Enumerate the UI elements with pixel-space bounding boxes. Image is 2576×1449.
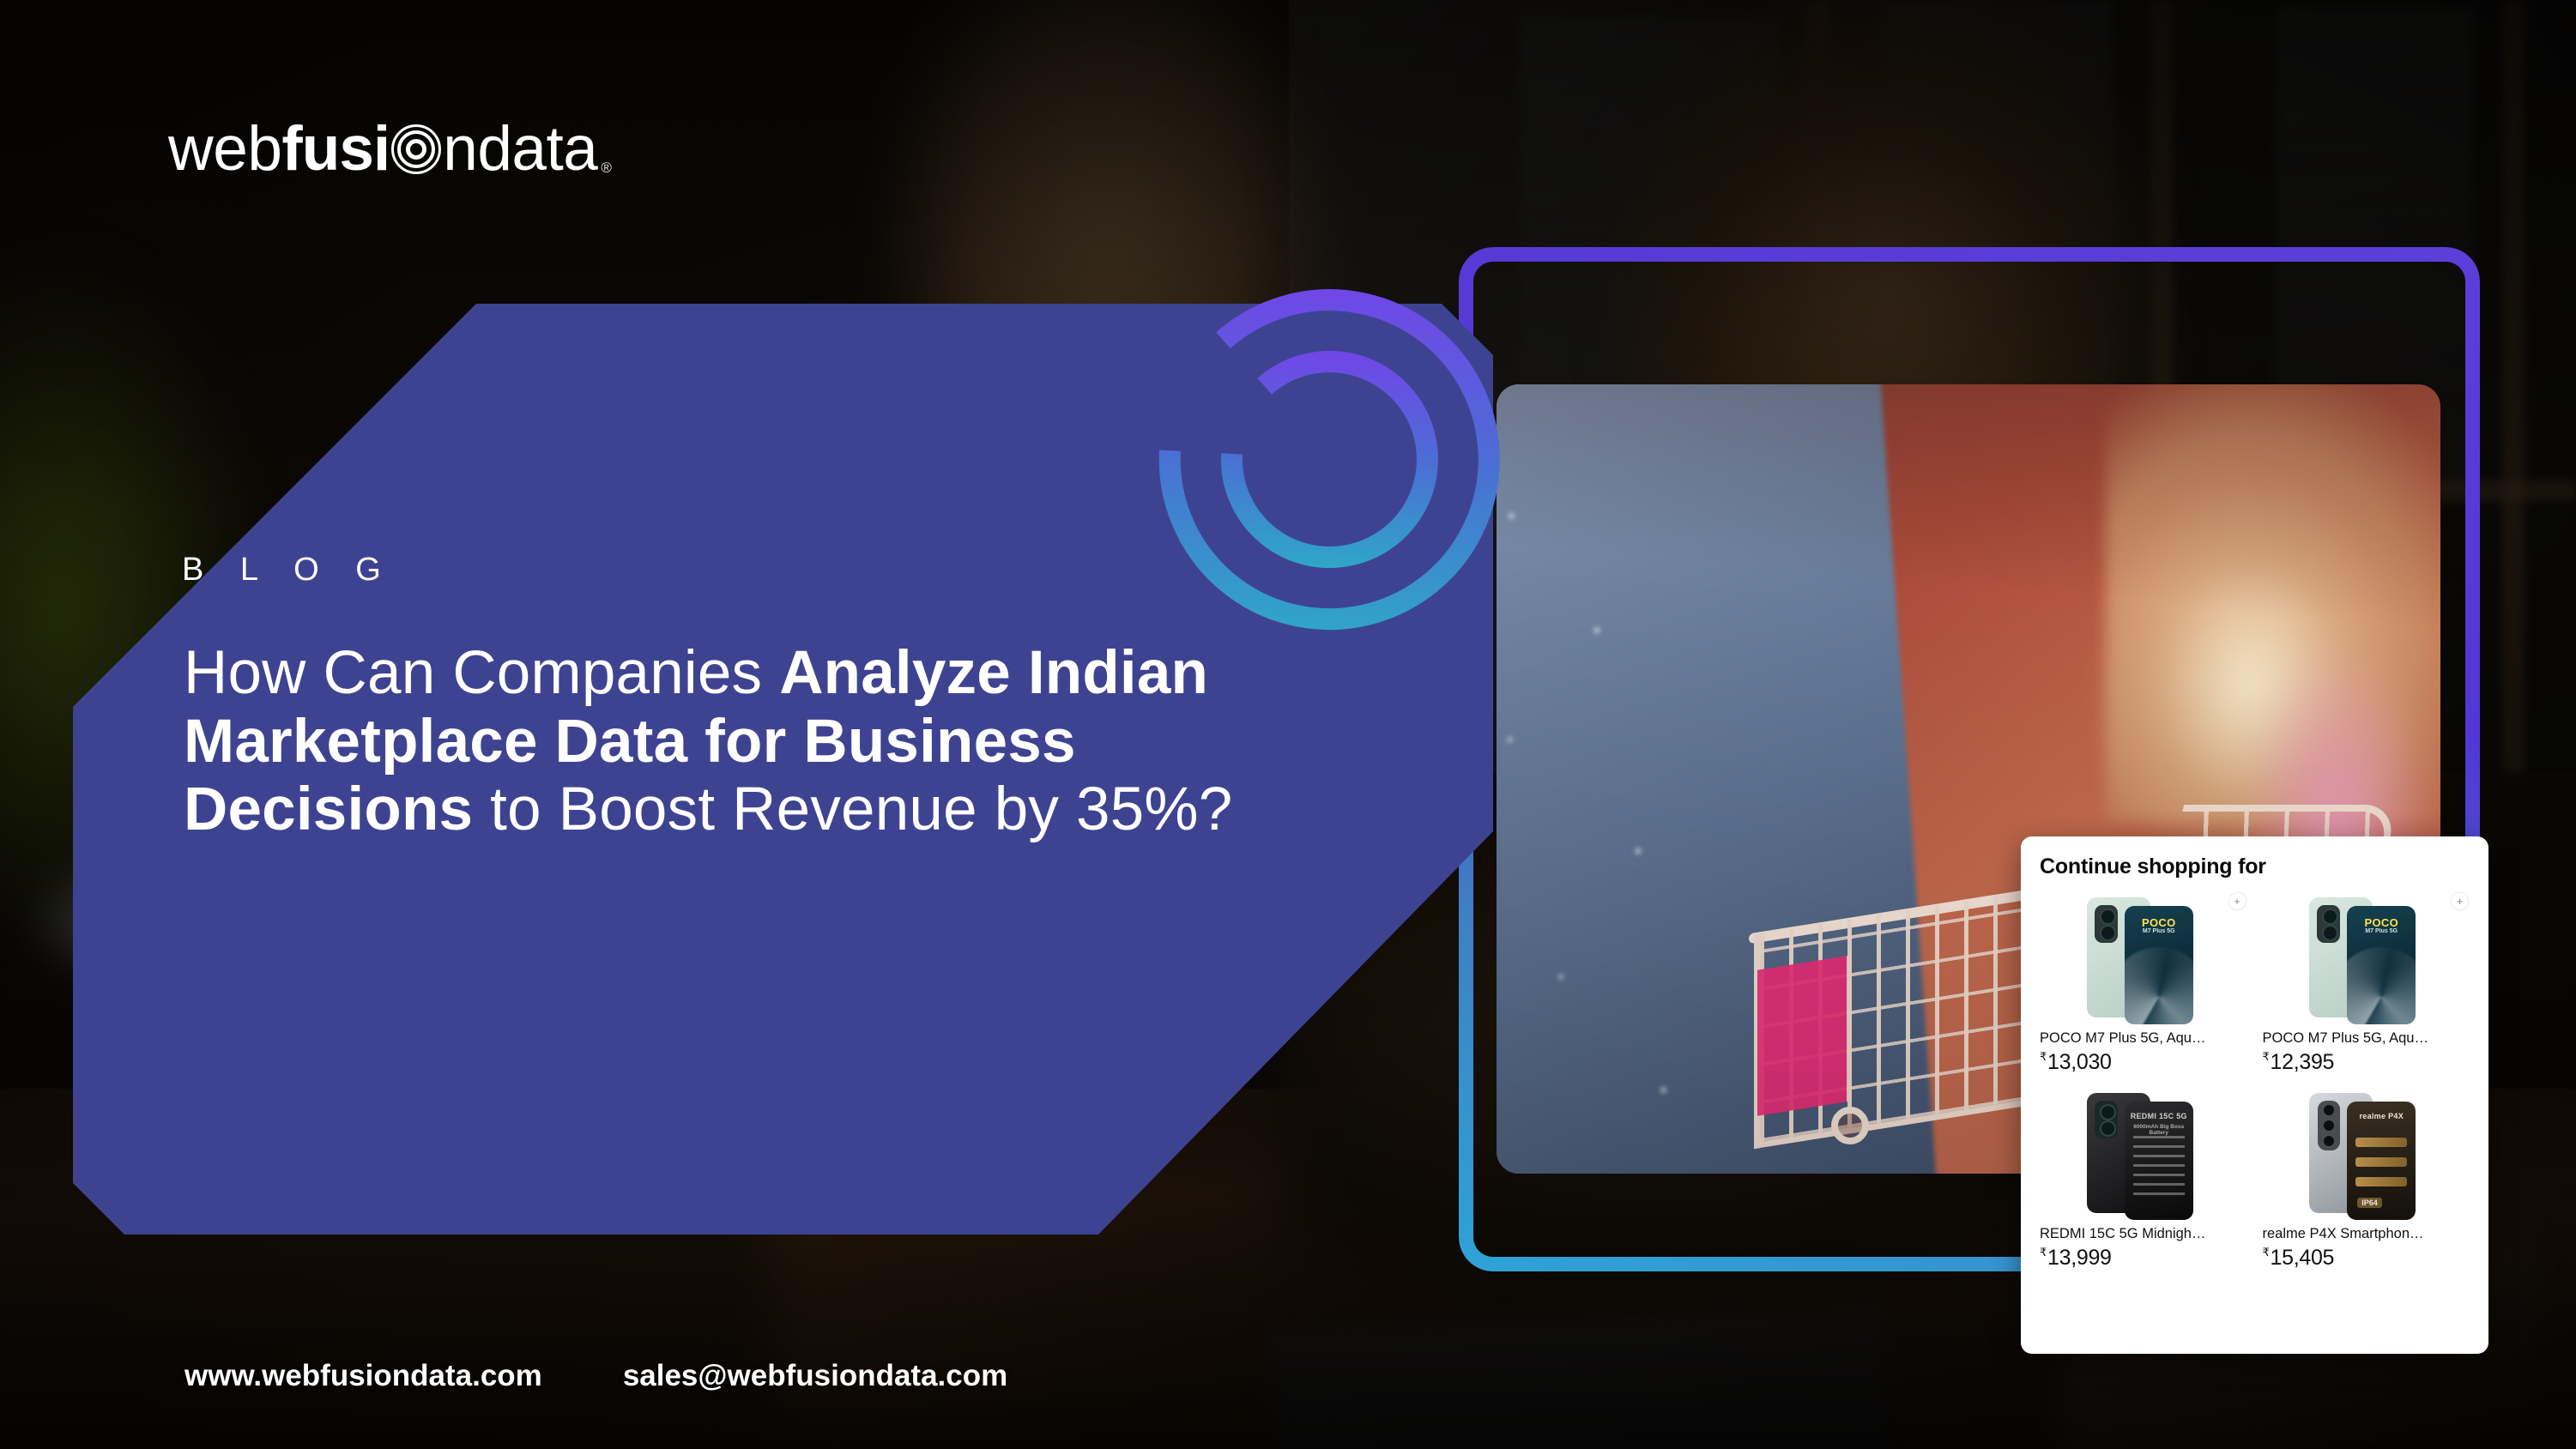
registered-mark: ® — [601, 160, 612, 175]
product-thumbnail: POCO M7 Plus 5G + — [2263, 884, 2470, 1029]
product-price: ₹15,405 — [2263, 1246, 2470, 1271]
product-thumbnail: realme P4X IP64 — [2263, 1080, 2470, 1224]
title-segment-2: to Boost Revenue by 35%? — [473, 776, 1232, 843]
product-card[interactable]: REDMI 15C 5G 6000mAh Big Boss Battery RE… — [2040, 1080, 2247, 1271]
product-brand-tag: REDMI 15C 5G — [2125, 1112, 2193, 1120]
plus-badge-icon[interactable]: + — [2452, 893, 2468, 909]
product-name: POCO M7 Plus 5G, Aqu… — [2040, 1030, 2247, 1048]
realme-phone-icon: realme P4X IP64 — [2309, 1088, 2422, 1217]
currency-symbol: ₹ — [2040, 1050, 2047, 1063]
product-card[interactable]: POCO M7 Plus 5G + POCO M7 Plus 5G, Aqu… … — [2040, 884, 2247, 1075]
product-brand-tag: realme P4X — [2347, 1112, 2416, 1120]
price-value: 12,395 — [2270, 1050, 2334, 1074]
price-value: 13,999 — [2047, 1246, 2112, 1270]
currency-symbol: ₹ — [2040, 1246, 2047, 1259]
logo-text-fusi: fusi — [281, 118, 390, 180]
product-brand-tag: POCO — [2125, 916, 2193, 929]
title-segment-1: How Can Companies — [184, 639, 779, 707]
poco-phone-icon: POCO M7 Plus 5G — [2087, 892, 2200, 1021]
footer-contact: www.webfusiondata.com sales@webfusiondat… — [184, 1359, 1007, 1393]
product-thumbnail: REDMI 15C 5G 6000mAh Big Boss Battery — [2040, 1080, 2247, 1224]
product-card[interactable]: realme P4X IP64 realme P4X Smartphon… ₹1… — [2263, 1080, 2470, 1271]
redmi-phone-icon: REDMI 15C 5G 6000mAh Big Boss Battery — [2087, 1088, 2200, 1217]
price-value: 15,405 — [2270, 1246, 2334, 1270]
product-name: POCO M7 Plus 5G, Aqu… — [2263, 1030, 2470, 1048]
product-name: realme P4X Smartphon… — [2263, 1226, 2470, 1243]
product-thumbnail: POCO M7 Plus 5G + — [2040, 884, 2247, 1029]
product-badge: IP64 — [2357, 1198, 2382, 1208]
continue-shopping-panel: Continue shopping for POCO M7 Plus 5G + … — [2021, 836, 2488, 1354]
concentric-circle-o-icon — [391, 124, 441, 174]
footer-website[interactable]: www.webfusiondata.com — [184, 1359, 542, 1393]
product-name: REDMI 15C 5G Midnigh… — [2040, 1226, 2247, 1243]
product-price: ₹13,999 — [2040, 1246, 2247, 1271]
footer-email[interactable]: sales@webfusiondata.com — [623, 1359, 1007, 1393]
product-price: ₹13,030 — [2040, 1050, 2247, 1075]
poco-phone-icon: POCO M7 Plus 5G — [2309, 892, 2422, 1021]
currency-symbol: ₹ — [2263, 1050, 2270, 1063]
product-grid: POCO M7 Plus 5G + POCO M7 Plus 5G, Aqu… … — [2040, 884, 2470, 1271]
product-price: ₹12,395 — [2263, 1050, 2470, 1075]
plus-badge-icon[interactable]: + — [2229, 893, 2246, 909]
panel-title: Continue shopping for — [2040, 854, 2470, 879]
blog-kicker-label: B L O G — [182, 552, 395, 589]
price-value: 13,030 — [2047, 1050, 2112, 1074]
logo-text-ndata: ndata — [443, 118, 597, 180]
product-sub-tag: M7 Plus 5G — [2125, 928, 2193, 934]
brand-logo[interactable]: web fusi ndata ® — [168, 118, 612, 180]
product-card[interactable]: POCO M7 Plus 5G + POCO M7 Plus 5G, Aqu… … — [2263, 884, 2470, 1075]
logo-text-web: web — [168, 118, 281, 180]
currency-symbol: ₹ — [2263, 1246, 2270, 1259]
product-sub-tag: 6000mAh Big Boss Battery — [2125, 1124, 2193, 1136]
product-brand-tag: POCO — [2347, 916, 2416, 929]
product-sub-tag: M7 Plus 5G — [2347, 928, 2416, 934]
page-title: How Can Companies Analyze Indian Marketp… — [184, 639, 1333, 844]
